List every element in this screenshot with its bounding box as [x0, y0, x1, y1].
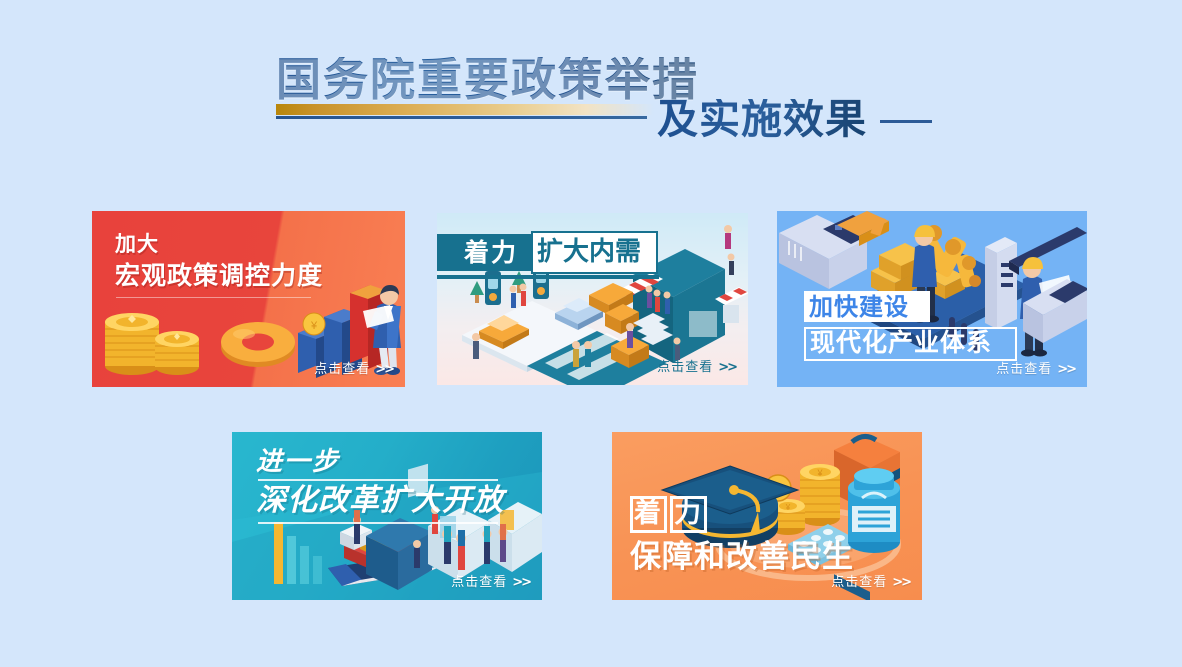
card1-cta[interactable]: 点击查看>> [314, 358, 393, 377]
card4-cta[interactable]: 点击查看>> [451, 571, 530, 590]
card5-cta-arrows-icon: >> [887, 575, 910, 590]
card1-cta-label: 点击查看 [314, 362, 370, 377]
card5-title-line2: 保障和改善民生 [630, 540, 854, 575]
card2-cta-arrows-icon: >> [713, 360, 736, 375]
card4-cta-label: 点击查看 [451, 575, 507, 590]
card1-title-line1: 加大 [115, 233, 159, 257]
page-title-line2: 及实施效果 [657, 99, 867, 140]
title-underline-rule [276, 116, 647, 119]
card-reform-opening[interactable]: 进一步 深化改革扩大开放 点击查看>> [232, 432, 542, 600]
card-expand-demand[interactable]: 着力 扩大内需 点击查看>> [437, 213, 748, 385]
card4-cta-arrows-icon: >> [507, 575, 530, 590]
svg-text:¥: ¥ [310, 320, 318, 332]
card2-title-line2: 扩大内需 [537, 238, 641, 267]
card1-cta-arrows-icon: >> [370, 362, 393, 377]
card5-title-char2: 力 [674, 499, 701, 529]
card4-title-line2: 深化改革扩大开放 [256, 484, 504, 518]
card-livelihood[interactable]: ¥ ¥ ¥ [612, 432, 922, 600]
card3-cta-label: 点击查看 [996, 362, 1052, 377]
card-modern-industry[interactable]: 加快建设 现代化产业体系 点击查看>> [777, 211, 1087, 387]
card2-title-line1: 着力 [464, 239, 518, 267]
card-macro-policy[interactable]: ¥ 加大 宏观政策调控力度 [92, 211, 405, 387]
card3-title-line2: 现代化产业体系 [810, 329, 992, 357]
page-header: 国务院重要政策举措 及实施效果 [0, 0, 1182, 175]
card3-cta[interactable]: 点击查看>> [996, 358, 1075, 377]
card4-title-line1: 进一步 [256, 448, 340, 477]
card5-cta[interactable]: 点击查看>> [831, 571, 910, 590]
svg-text:¥: ¥ [785, 503, 791, 512]
card1-title-rule [116, 297, 311, 298]
card2-title-underline [437, 275, 659, 279]
card3-cta-arrows-icon: >> [1052, 362, 1075, 377]
title-gold-accent-bar [276, 104, 654, 115]
card3-title-line1: 加快建设 [809, 294, 909, 321]
card2-cta[interactable]: 点击查看>> [657, 356, 736, 375]
card5-title-char1: 着 [634, 499, 661, 529]
card4-rule-bottom [258, 522, 498, 524]
card1-title-line2: 宏观政策调控力度 [115, 262, 323, 290]
card4-rule-top [258, 479, 498, 481]
card2-cta-label: 点击查看 [657, 360, 713, 375]
title-trailing-dash [880, 120, 932, 123]
card5-cta-label: 点击查看 [831, 575, 887, 590]
page-title-line1: 国务院重要政策举措 [276, 57, 699, 102]
svg-text:¥: ¥ [816, 468, 823, 478]
